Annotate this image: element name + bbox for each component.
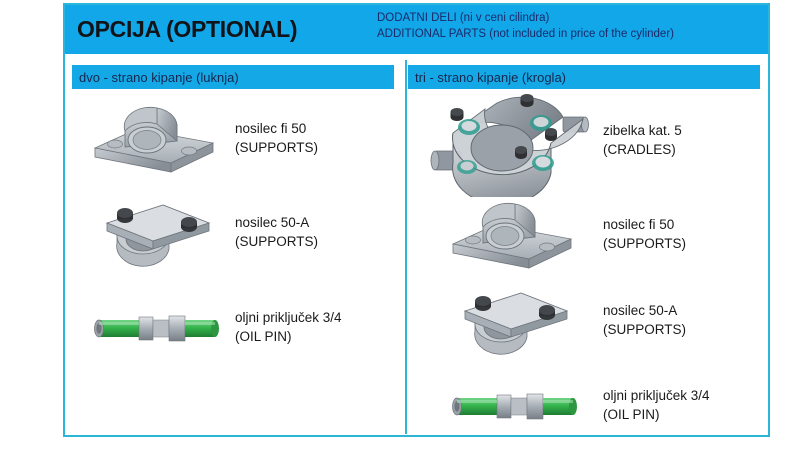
list-item: oljni priključek 3/4 (OIL PIN) [443, 373, 763, 441]
page-title: OPCIJA (OPTIONAL) [77, 16, 297, 43]
list-item-label: nosilec 50-A (SUPPORTS) [603, 301, 686, 339]
list-item: nosilec 50-A (SUPPORTS) [443, 283, 763, 361]
list-item-label: nosilec fi 50 (SUPPORTS) [603, 215, 686, 253]
pillow-block-support-icon [85, 101, 225, 179]
list-item-name-en: (CRADLES) [603, 140, 682, 159]
list-item-name-en: (SUPPORTS) [235, 232, 318, 251]
column-header-left: dvo - strano kipanje (luknja) [72, 65, 394, 89]
header-note-slovene: DODATNI DELI (ni v ceni cilindra) [377, 11, 762, 27]
oil-pin-fitting-icon [443, 373, 583, 441]
panel-header-band: OPCIJA (OPTIONAL) DODATNI DELI (ni v cen… [65, 5, 768, 54]
header-note: DODATNI DELI (ni v ceni cilindra) ADDITI… [377, 11, 762, 42]
list-item-name-en: (SUPPORTS) [603, 320, 686, 339]
list-item: nosilec fi 50 (SUPPORTS) [85, 101, 395, 179]
list-item-name-sl: nosilec fi 50 [603, 215, 686, 234]
list-item: nosilec fi 50 (SUPPORTS) [443, 197, 763, 275]
column-divider [405, 60, 407, 434]
pillow-block-support-icon [443, 197, 583, 275]
list-item-name-sl: oljni priključek 3/4 [603, 386, 710, 405]
column-header-left-label: dvo - strano kipanje (luknja) [79, 70, 239, 85]
catalog-panel: OPCIJA (OPTIONAL) DODATNI DELI (ni v cen… [63, 3, 770, 437]
list-item-name-sl: zibelka kat. 5 [603, 121, 682, 140]
list-item-label: oljni priključek 3/4 (OIL PIN) [235, 308, 342, 346]
cradle-ring-clamp-icon [423, 89, 593, 197]
list-item: zibelka kat. 5 (CRADLES) [423, 89, 763, 197]
list-item-label: oljni priključek 3/4 (OIL PIN) [603, 386, 710, 424]
list-item-name-sl: nosilec fi 50 [235, 119, 318, 138]
list-item-name-en: (SUPPORTS) [235, 138, 318, 157]
list-item-name-en: (OIL PIN) [235, 327, 342, 346]
list-item-name-en: (OIL PIN) [603, 405, 710, 424]
list-item: oljni priključek 3/4 (OIL PIN) [85, 295, 395, 363]
clamp-support-icon [443, 283, 583, 361]
header-note-english: ADDITIONAL PARTS (not included in price … [377, 27, 762, 43]
clamp-support-icon [85, 195, 225, 273]
catalog-page: OPCIJA (OPTIONAL) DODATNI DELI (ni v cen… [0, 0, 800, 450]
list-item-name-sl: nosilec 50-A [235, 213, 318, 232]
list-item-label: zibelka kat. 5 (CRADLES) [603, 121, 682, 159]
list-item-name-en: (SUPPORTS) [603, 234, 686, 253]
column-header-right: tri - strano kipanje (krogla) [408, 65, 760, 89]
list-item-name-sl: nosilec 50-A [603, 301, 686, 320]
list-item-name-sl: oljni priključek 3/4 [235, 308, 342, 327]
oil-pin-fitting-icon [85, 295, 225, 363]
column-header-right-label: tri - strano kipanje (krogla) [415, 70, 566, 85]
list-item-label: nosilec fi 50 (SUPPORTS) [235, 119, 318, 157]
list-item: nosilec 50-A (SUPPORTS) [85, 195, 395, 273]
list-item-label: nosilec 50-A (SUPPORTS) [235, 213, 318, 251]
